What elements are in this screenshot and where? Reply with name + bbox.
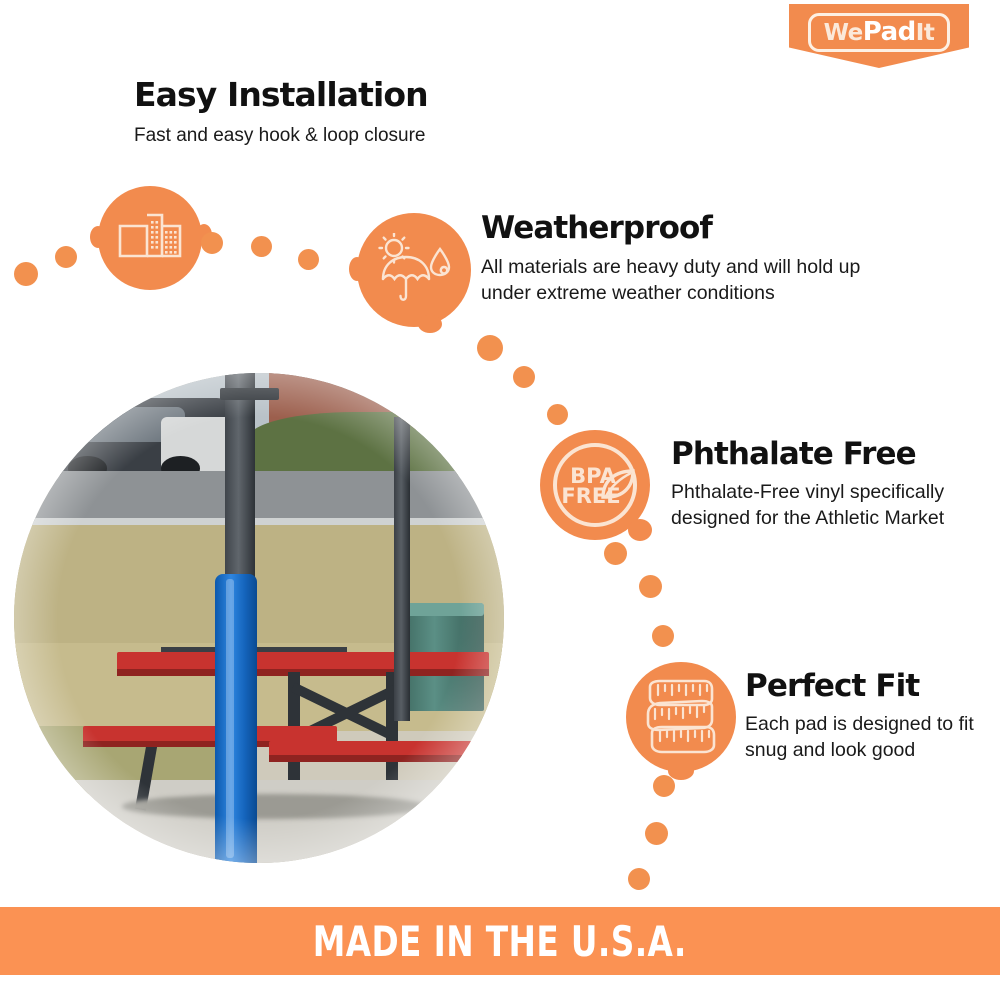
photo-barrel-rim	[401, 603, 484, 616]
logo-text-it: It	[916, 20, 935, 46]
trail-dot	[298, 249, 319, 270]
made-in-usa-text: MADE IN THE U.S.A.	[313, 917, 687, 966]
icon-bump-velcro-left	[90, 226, 106, 248]
logo-text-pad: Pad	[863, 17, 916, 47]
trail-dot	[477, 335, 503, 361]
feature-desc-easy-installation: Fast and easy hook & loop closure	[134, 123, 604, 149]
photo-hedge	[249, 412, 504, 476]
feature-title-easy-installation: Easy Installation	[134, 78, 604, 113]
feature-desc-perfect-fit: Each pad is designed to fit snug and loo…	[745, 711, 990, 765]
trail-dot	[547, 404, 568, 425]
logo-text-we: We	[824, 20, 863, 46]
photo-table-top-edge	[117, 669, 489, 676]
trail-dot	[513, 366, 535, 388]
trail-dot	[628, 868, 650, 890]
bpa-icon-line2: FREE	[561, 484, 620, 508]
umbrella-sun-rain-icon	[357, 213, 471, 327]
trail-dot	[251, 236, 272, 257]
photo-metal-post-right	[394, 417, 411, 721]
trail-dot	[652, 625, 674, 647]
icon-bump-tape-bottom	[668, 762, 694, 780]
trail-dot	[55, 246, 77, 268]
feature-desc-weatherproof: All materials are heavy duty and will ho…	[481, 254, 911, 308]
trail-dot	[604, 542, 627, 565]
trail-dot	[201, 232, 223, 254]
icon-bump-weather-bottom	[418, 315, 442, 333]
photo-blue-pad-highlight	[226, 579, 234, 858]
feature-title-perfect-fit: Perfect Fit	[745, 670, 990, 703]
brand-logo-frame: WePadIt	[808, 13, 951, 52]
photo-sidewalk	[14, 780, 504, 863]
trail-dot	[14, 262, 38, 286]
trail-dot	[653, 775, 675, 797]
trail-dot	[645, 822, 668, 845]
feature-title-weatherproof: Weatherproof	[481, 212, 911, 245]
photo-table-shadow	[122, 794, 426, 819]
photo-blue-pole-pad	[215, 574, 257, 863]
product-photo-scene	[14, 373, 504, 863]
photo-bench-back-edge	[269, 755, 494, 761]
made-in-usa-banner: MADE IN THE U.S.A.	[0, 907, 1000, 975]
hook-and-loop-icon	[98, 186, 202, 290]
photo-post-cap	[220, 388, 279, 400]
feature-desc-phthalate-free: Phthalate-Free vinyl specifically design…	[671, 479, 986, 533]
trail-dot	[639, 575, 662, 598]
feature-title-phthalate-free: Phthalate Free	[671, 438, 986, 471]
icon-bump-weather-left	[349, 257, 365, 281]
product-photo	[14, 373, 504, 863]
feature-block-phthalate-free: Phthalate Free Phthalate-Free vinyl spec…	[671, 438, 986, 532]
feature-block-weatherproof: Weatherproof All materials are heavy dut…	[481, 212, 911, 307]
infographic-page: WePadIt Easy Installation Fast and easy …	[0, 0, 1000, 987]
icon-bump-bpa-bottom	[628, 519, 652, 541]
feature-block-easy-installation: Easy Installation Fast and easy hook & l…	[134, 78, 604, 149]
feature-block-perfect-fit: Perfect Fit Each pad is designed to fit …	[745, 670, 990, 764]
measuring-tape-icon	[626, 662, 736, 772]
brand-logo-badge: WePadIt	[789, 4, 969, 68]
